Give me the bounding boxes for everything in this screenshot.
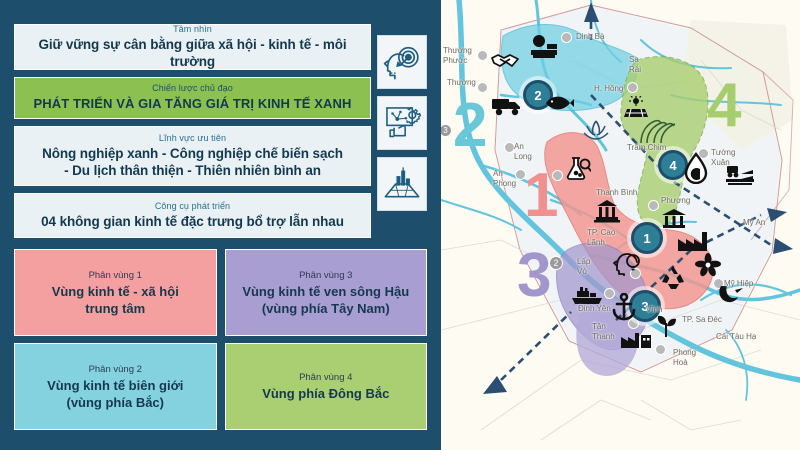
zone-2-kicker: Phân vùng 2	[89, 363, 142, 377]
fish-icon	[544, 94, 574, 112]
water-drop-icon	[683, 152, 709, 184]
map-label-h-hong: H. Hồng	[594, 84, 623, 94]
map-label-an-long: An Long	[514, 142, 532, 161]
map-hub-1-label: 1	[643, 231, 650, 246]
map-zone-number-2: 2	[453, 95, 487, 157]
main-strategy-kicker: Chiến lược chủ đạo	[23, 82, 362, 95]
strategy-panel: Tầm nhìn Giữ vững sự cân bằng giữa xã hộ…	[0, 0, 441, 450]
vision-headline: Giữ vững sự cân bằng giữa xã hội - kinh …	[23, 36, 362, 70]
tools-banner: Công cụ phát triển 04 không gian kinh tế…	[14, 193, 371, 238]
zone-2-title-line1: Vùng kinh tế biên giới	[47, 377, 183, 394]
zone-card-4: Phân vùng 4 Vùng phía Đông Bắc	[225, 343, 428, 430]
temple-icon	[593, 199, 621, 223]
map-label-tram-chim: Trâm Chim	[627, 143, 666, 153]
zoning-map: 2 4 1 3 3 2 2 4 1	[441, 0, 800, 450]
zone-3-title-line2: (vùng phía Tây Nam)	[262, 300, 390, 317]
zone-1-kicker: Phân vùng 1	[89, 269, 142, 283]
main-strategy-banner: Chiến lược chủ đạo PHÁT TRIỂN VÀ GIA TĂN…	[14, 77, 371, 119]
map-label-dinh-ba: Dinh Bà	[576, 32, 604, 42]
map-label-thuong-phuoc: Thường Phước	[443, 46, 472, 65]
zone-card-grid: Phân vùng 1 Vùng kinh tế - xã hội trung …	[14, 249, 427, 430]
map-label-my-hiep: Mỹ Hiệp	[724, 279, 753, 289]
lotus-icon	[581, 118, 611, 142]
map-label-phuong: Phương	[661, 196, 690, 206]
map-label-vinh-thanh: Vĩnh	[646, 305, 662, 315]
anchor-icon	[611, 293, 637, 321]
map-node-dot	[477, 50, 488, 61]
map-hub-2-label: 2	[534, 88, 541, 103]
map-label-tuong-xuan: Tường Xuân	[711, 148, 735, 167]
map-label-tp-sa-dec: TP. Sa Đéc	[682, 315, 722, 325]
strategy-block: Tầm nhìn Giữ vững sự cân bằng giữa xã hộ…	[14, 24, 427, 238]
infographic-root: Tầm nhìn Giữ vững sự cân bằng giữa xã hộ…	[0, 0, 800, 450]
map-node-dot	[627, 82, 638, 93]
tools-kicker: Công cụ phát triển	[23, 200, 362, 213]
flask-lab-icon	[565, 156, 591, 180]
strategy-icon-column	[377, 24, 427, 238]
factory-icon	[676, 230, 710, 252]
priority-headline-line2: - Du lịch thân thiện - Thiên nhiên bình …	[23, 162, 362, 179]
flower-icon	[693, 252, 723, 278]
boat-icon	[571, 285, 603, 305]
port-industry-icon	[619, 327, 653, 349]
map-small-marker-2: 2	[549, 256, 563, 270]
zone-card-3: Phân vùng 3 Vùng kinh tế ven sông Hậu (v…	[225, 249, 428, 336]
map-label-phong-hoa: Phong Hoà	[673, 348, 696, 367]
solar-panel-icon	[623, 96, 649, 120]
map-node-dot	[552, 170, 563, 181]
main-strategy-headline: PHÁT TRIỂN VÀ GIA TĂNG GIÁ TRỊ KINH TẾ X…	[23, 95, 362, 112]
zone-2-title-line2: (vùng phía Bắc)	[66, 394, 164, 411]
map-zone-number-3: 3	[517, 245, 551, 307]
hand-network-gear-icon	[377, 96, 427, 150]
map-label-tp-cao-lanh: TP. Cao Lãnh	[587, 228, 615, 247]
priority-banner: Lĩnh vực ưu tiên Nông nghiệp xanh - Công…	[14, 126, 371, 186]
map-label-dinh-yen: Đinh Yên	[578, 304, 611, 314]
map-small-marker-2-label: 2	[553, 258, 558, 268]
head-target-icon	[377, 35, 427, 89]
map-label-tan-thanh: Tân Thanh	[592, 322, 615, 341]
truck-icon	[491, 96, 523, 116]
map-label-lap-vo: Lấp Vò	[577, 257, 590, 276]
zone-3-kicker: Phân vùng 3	[299, 269, 352, 283]
map-node-dot	[561, 32, 572, 43]
zone-card-1: Phân vùng 1 Vùng kinh tế - xã hội trung …	[14, 249, 217, 336]
museum-icon	[661, 208, 687, 230]
border-gate-icon	[529, 34, 559, 60]
map-node-dot	[477, 82, 488, 93]
zone-card-2: Phân vùng 2 Vùng kinh tế biên giới (vùng…	[14, 343, 217, 430]
vision-banner: Tầm nhìn Giữ vững sự cân bằng giữa xã hộ…	[14, 24, 371, 70]
recycle-icon	[659, 265, 687, 291]
map-label-thuong: Thường	[447, 78, 476, 88]
map-label-cai-tau-ha: Cái Tàu Hạ	[716, 332, 756, 342]
map-label-an-phong: An Phong	[493, 169, 516, 188]
zone-1-title-line2: trung tâm	[85, 300, 145, 317]
priority-kicker: Lĩnh vực ưu tiên	[23, 132, 362, 145]
map-zone-number-4: 4	[707, 75, 741, 137]
priority-headline-line1: Nông nghiệp xanh - Công nghiệp chế biến …	[23, 145, 362, 162]
city-map-icon	[377, 157, 427, 211]
rice-field-icon	[637, 118, 679, 144]
map-label-my-an: Mỹ An	[743, 218, 765, 228]
zone-4-kicker: Phân vùng 4	[299, 371, 352, 385]
map-node-dot	[648, 200, 659, 211]
handshake-icon	[490, 52, 520, 70]
strategy-banner-list: Tầm nhìn Giữ vững sự cân bằng giữa xã hộ…	[14, 24, 371, 238]
map-node-dot	[655, 344, 666, 355]
map-label-thanh-binh: Thanh Bình	[596, 188, 637, 198]
map-hub-4-label: 4	[669, 158, 676, 173]
map-node-dot	[515, 169, 526, 180]
map-label-sa-rai: Sa Rài	[629, 55, 641, 74]
vision-kicker: Tầm nhìn	[23, 23, 362, 36]
sprout-icon	[653, 312, 679, 338]
zone-1-title-line1: Vùng kinh tế - xã hội	[52, 283, 179, 300]
zone-3-title-line1: Vùng kinh tế ven sông Hậu	[242, 283, 409, 300]
bulb-head-icon	[613, 250, 643, 276]
tools-headline: 04 không gian kinh tế đặc trưng bổ trợ l…	[23, 213, 362, 230]
zone-4-title-line1: Vùng phía Đông Bắc	[262, 385, 389, 402]
map-small-marker-3-label: 3	[443, 126, 447, 135]
